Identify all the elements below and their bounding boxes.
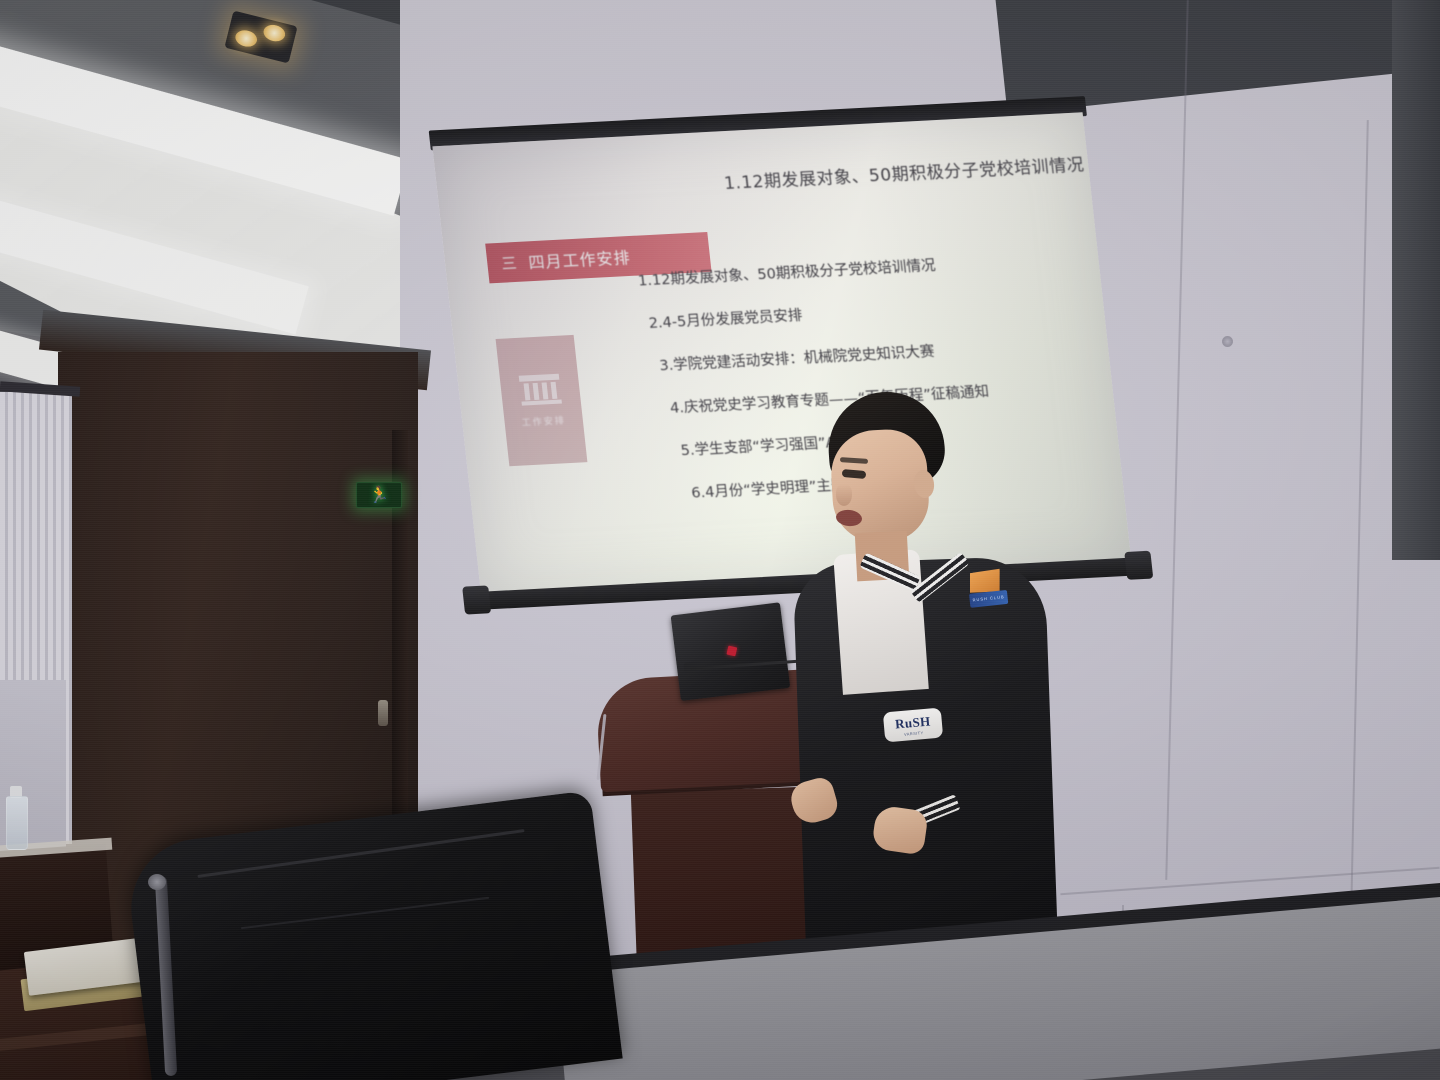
laptop[interactable]	[671, 601, 802, 711]
jacket-chest-patch: RuSH VARSITY	[883, 708, 943, 743]
photo-scene: 🏃 1.12期发展对象、50期积极分子党校培训情况 三 四月工作安排	[0, 0, 1440, 1080]
slide-side-card-caption: 工作安排	[521, 413, 566, 428]
chair-hinge-icon	[148, 874, 166, 890]
list-item: 3.学院党建活动安排：机械院党史知识大赛	[658, 329, 1131, 375]
list-item: 1.12期发展对象、50期积极分子党校培训情况	[637, 243, 1131, 290]
bank-building-icon	[519, 373, 562, 405]
chest-patch-label: RuSH	[894, 713, 931, 732]
door-handle-icon[interactable]	[378, 700, 388, 726]
list-item: 2.4-5月份发展党员安排	[648, 286, 1132, 333]
wall-right-edge	[1392, 0, 1440, 560]
arm-patch-banner: RUSH CLUB	[969, 590, 1008, 608]
slide-heading-number: 三	[500, 252, 517, 274]
water-bottle[interactable]	[6, 786, 26, 848]
exit-sign: 🏃	[356, 482, 402, 508]
slide-heading-text: 四月工作安排	[527, 244, 632, 273]
speaker-nose	[836, 484, 852, 506]
chest-patch-sublabel: VARSITY	[904, 730, 924, 737]
running-person-icon: 🏃	[369, 487, 389, 503]
slide-top-title: 1.12期发展对象、50期积极分子党校培训情况	[723, 152, 1056, 194]
arm-patch-label: RUSH CLUB	[969, 590, 1008, 608]
slide-side-card: 工作安排	[496, 335, 588, 466]
screen-end-cap-left	[462, 585, 491, 614]
bottle-body	[6, 796, 28, 850]
screen-end-cap-right	[1124, 551, 1153, 580]
wall-fixture-screw	[1222, 336, 1233, 347]
